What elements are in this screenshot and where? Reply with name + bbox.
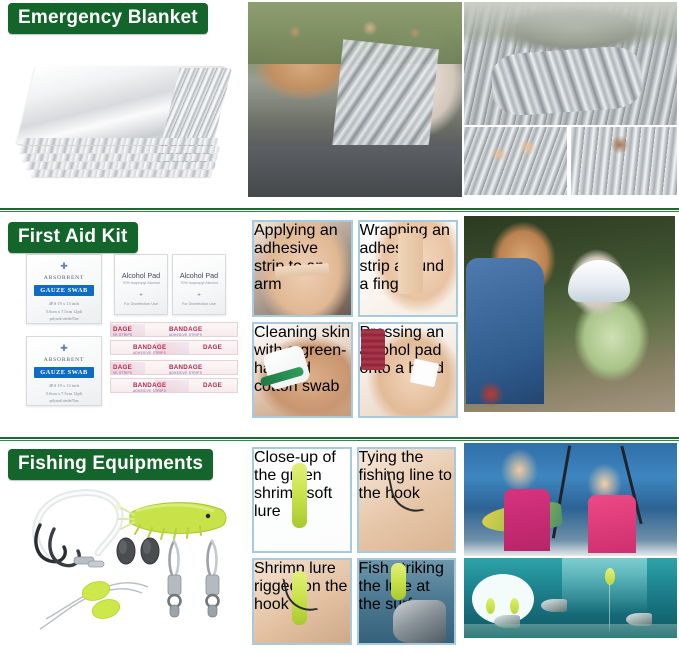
alcohol-pad — [409, 358, 439, 387]
bandage-strip: BANDAGE ADHESIVE STRIPS DAGE — [110, 340, 238, 355]
adhesive-strip — [398, 233, 423, 294]
first-aid-product-image: ✚ ABSORBENT GAUZE SWAB 4P.S 19 x 13 inch… — [24, 252, 240, 427]
gauze-swab-label: GAUZE SWAB — [40, 369, 87, 376]
bandage-subtitle: ADHESIVE STRIPS — [133, 389, 166, 393]
first-aid-usage-grid: Applying an adhesive strip to an arm Wra… — [252, 220, 458, 418]
photo-bandage-on-arm: Applying an adhesive strip to an arm — [252, 220, 353, 317]
alcohol-pad-subtitle: 70% Isopropyl Alcohol — [115, 281, 167, 285]
bandage-strip: DAGE VE STRIPS BANDAGE ADHESIVE STRIPS — [110, 322, 238, 337]
gauze-swab-sachet: ✚ ABSORBENT GAUZE SWAB 4P.S 19 x 13 inch… — [26, 254, 102, 324]
striking-fish — [393, 600, 446, 643]
sea-floor — [464, 624, 677, 638]
fishing-photo-column-right: Two girls holding their caught fish on a… — [464, 441, 679, 653]
section-badge-emergency-blanket: Emergency Blanket — [8, 3, 208, 34]
bandage-subtitle: ADHESIVE STRIPS — [133, 351, 166, 355]
firstaid-photo-column-right: Mother treating a child's scraped knee b… — [464, 212, 679, 437]
shrimp-lure — [391, 563, 406, 600]
photo-bicycle — [470, 370, 540, 410]
lure-in-water — [605, 568, 615, 585]
foil-layer — [19, 146, 220, 153]
gauze-swab-bar: GAUZE SWAB — [34, 285, 94, 296]
medical-cross-icon: ✚ — [60, 262, 68, 271]
foil-layer — [31, 170, 213, 177]
bandage-strip-group: DAGE VE STRIPS BANDAGE ADHESIVE STRIPS B… — [110, 360, 238, 394]
bandage-strip: BANDAGE ADHESIVE STRIPS DAGE — [110, 378, 238, 393]
photo-girl-left — [504, 489, 550, 551]
photo-shrimp-lure-closeup: Close-up of the green shrimp soft lure — [252, 447, 352, 553]
photo-rigged-lure: Shrimp lure rigged on the hook — [252, 558, 352, 646]
photo-fish-strike: Fish striking the lure at the surface — [357, 558, 457, 646]
medical-cross-icon: ✚ — [115, 292, 167, 297]
foil-layer — [21, 138, 219, 145]
gauze-spec-line: 5.6cm x 7.5cm 12pli — [27, 391, 101, 396]
bandage-subtitle: ADHESIVE STRIPS — [169, 371, 202, 375]
gauze-swab-label: GAUZE SWAB — [40, 287, 87, 294]
alcohol-pad-sachet: Alcohol Pad 70% Isopropyl Alcohol ✚ For … — [172, 254, 226, 315]
emergency-blanket-product-image — [18, 60, 230, 185]
photo-marathon-runner: Race volunteer wrapping an exhausted run… — [248, 2, 462, 197]
alcohol-pad-use-label: For Disinfection Use — [115, 302, 167, 306]
gauze-swab-bar: GAUZE SWAB — [34, 367, 94, 378]
section-badge-first-aid-kit: First Aid Kit — [8, 222, 138, 253]
gauze-swab-sachet: ✚ ABSORBENT GAUZE SWAB 4P.S 19 x 13 inch… — [26, 336, 102, 406]
section-first-aid-kit: First Aid Kit ✚ ABSORBENT GAUZE SWAB 4P.… — [0, 212, 679, 437]
firstaid-photo-grid-column: Applying an adhesive strip to an arm Wra… — [248, 212, 464, 437]
float-bead — [486, 598, 495, 614]
photo-bandage-on-finger: Wrapping an adhesive strip around a fing… — [358, 220, 459, 317]
gauze-absorbent-label: ABSORBENT — [27, 275, 101, 281]
bandage-strip-group: DAGE VE STRIPS BANDAGE ADHESIVE STRIPS B… — [110, 322, 238, 356]
bandage-word: DAGE — [203, 344, 222, 351]
fishing-equipment-product-image — [10, 479, 242, 639]
blanket-photo-column-center: Race volunteer wrapping an exhausted run… — [248, 0, 464, 208]
section-badge-fishing-equipments: Fishing Equipments — [8, 449, 213, 480]
wrist-cuff — [361, 329, 384, 370]
photo-child-helmet — [568, 260, 630, 302]
medical-cross-icon: ✚ — [60, 344, 68, 353]
foil-layer — [22, 154, 218, 161]
photo-girl-right — [588, 495, 636, 553]
gauze-spec-line: 4P.S 19 x 13 inch — [27, 383, 101, 388]
blanket-photo-column-right: Person in a mylar sleeping bag under a r… — [464, 0, 679, 208]
alcohol-pad-use-label: For Disinfection Use — [173, 302, 225, 306]
shrimp-lure — [292, 463, 307, 528]
photo-hook-and-line: Tying the fishing line to the hook — [357, 447, 457, 553]
foil-layer — [26, 162, 216, 169]
bandage-word: DAGE — [203, 382, 222, 389]
fishing-usage-grid: Close-up of the green shrimp soft lure T… — [252, 447, 456, 645]
photo-two-children: Two children wrapped together in an emer… — [464, 127, 567, 195]
photo-pad-on-hand: Pressing an alcohol pad onto a hand — [358, 322, 459, 419]
photo-outdoor-shelter: Person in a mylar sleeping bag under a r… — [464, 2, 677, 125]
blanket-product-column: Emergency Blanket — [0, 0, 248, 208]
photo-tree-canopy — [464, 2, 677, 48]
fishing-product-column: Fishing Equipments — [0, 441, 248, 653]
alcohol-pad-title: Alcohol Pad — [115, 271, 167, 280]
photo-wrapped-person: Person wrapped in a foil blanket sitting… — [571, 127, 677, 195]
alcohol-pad-title: Alcohol Pad — [173, 271, 225, 280]
gauze-spec-line: polyseal sterile/Non — [27, 399, 101, 403]
bandage-strip: DAGE VE STRIPS BANDAGE ADHESIVE STRIPS — [110, 360, 238, 375]
section-fishing-equipments: Fishing Equipments — [0, 441, 679, 653]
float-bead — [510, 598, 519, 614]
photo-girls-with-catch: Two girls holding their caught fish on a… — [464, 443, 677, 556]
gauze-spec-line: 5.6cm x 7.5cm 12pli — [27, 309, 101, 314]
sunbeam — [562, 558, 647, 614]
firstaid-product-column: First Aid Kit ✚ ABSORBENT GAUZE SWAB 4P.… — [0, 212, 248, 437]
product-infographic: Emergency Blanket Race volunteer wrappin… — [0, 0, 679, 653]
photo-mylar-sleeping-bag — [490, 45, 644, 117]
bandage-subtitle: VE STRIPS — [113, 371, 132, 375]
section-emergency-blanket: Emergency Blanket Race volunteer wrappin… — [0, 0, 679, 208]
medical-cross-icon: ✚ — [173, 292, 225, 297]
bandage-subtitle: ADHESIVE STRIPS — [169, 333, 202, 337]
alcohol-pad-subtitle: 70% Isopropyl Alcohol — [173, 281, 225, 285]
gauze-absorbent-label: ABSORBENT — [27, 357, 101, 363]
bandage-subtitle: VE STRIPS — [113, 333, 132, 337]
swimming-fish — [541, 599, 567, 612]
photo-swab-on-skin: Cleaning skin with a green-handled cotto… — [252, 322, 353, 419]
gauze-spec-line: 4P.S 19 x 13 inch — [27, 301, 101, 306]
alcohol-pad-sachet: Alcohol Pad 70% Isopropyl Alcohol ✚ For … — [114, 254, 168, 315]
photo-caption: Applying an adhesive strip to an arm — [254, 222, 338, 293]
photo-underwater-scene: Underwater view of the lure with fish sw… — [464, 558, 677, 638]
photo-road — [248, 145, 462, 197]
gauze-spec-line: polyseal sterile/Non — [27, 317, 101, 321]
fishing-photo-grid-column: Close-up of the green shrimp soft lure T… — [248, 441, 464, 653]
photo-mother-and-child: Mother treating a child's scraped knee b… — [464, 216, 675, 412]
